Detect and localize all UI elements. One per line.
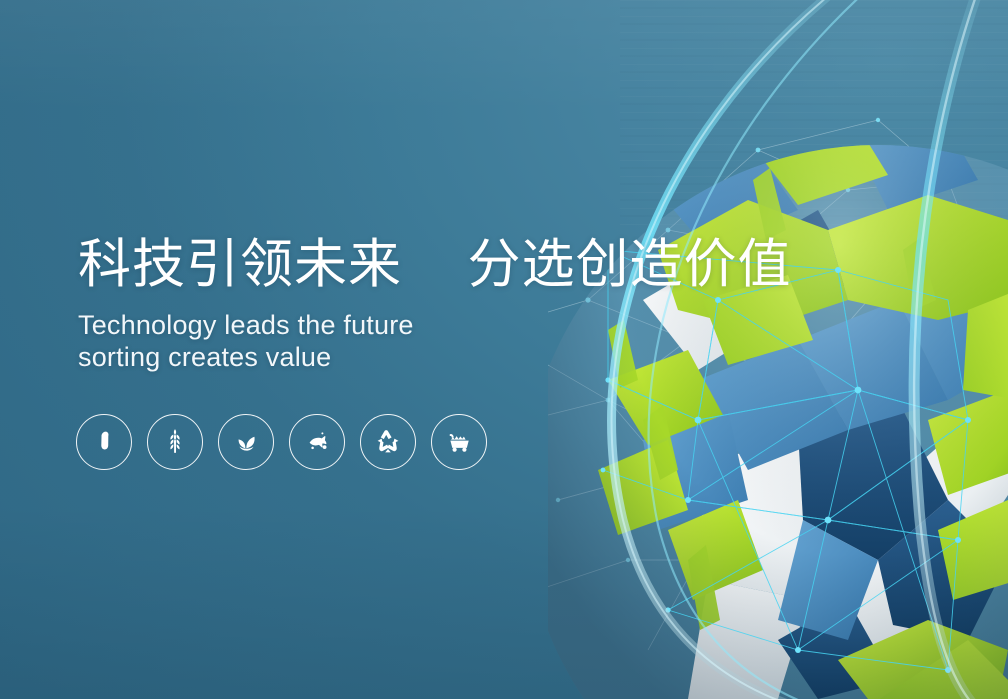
icon-tea-leaf[interactable]	[218, 414, 274, 470]
icon-wheat[interactable]	[147, 414, 203, 470]
headline-right: 分选创造价值	[467, 235, 791, 294]
subtitle-line-2: sorting creates value	[78, 342, 778, 374]
recycling-icon	[372, 426, 404, 458]
wheat-icon	[159, 426, 191, 458]
tea-leaf-icon	[230, 426, 262, 458]
subtitle: Technology leads the future sorting crea…	[78, 310, 778, 374]
icon-mining-cart[interactable]	[431, 414, 487, 470]
promo-banner: 科技引领未来 分选创造价值 Technology leads the futur…	[0, 0, 1008, 699]
fish-icon	[301, 426, 333, 458]
industry-icon-row	[76, 414, 487, 470]
banner-content: 科技引领未来 分选创造价值 Technology leads the futur…	[78, 236, 778, 374]
mining-cart-icon	[443, 426, 475, 458]
headline-left: 科技引领未来	[78, 235, 402, 294]
icon-rice-grain[interactable]	[76, 414, 132, 470]
icon-recycling[interactable]	[360, 414, 416, 470]
subtitle-line-1: Technology leads the future	[78, 310, 778, 342]
headline: 科技引领未来 分选创造价值	[78, 236, 778, 294]
icon-fish[interactable]	[289, 414, 345, 470]
rice-grain-icon	[89, 427, 119, 457]
